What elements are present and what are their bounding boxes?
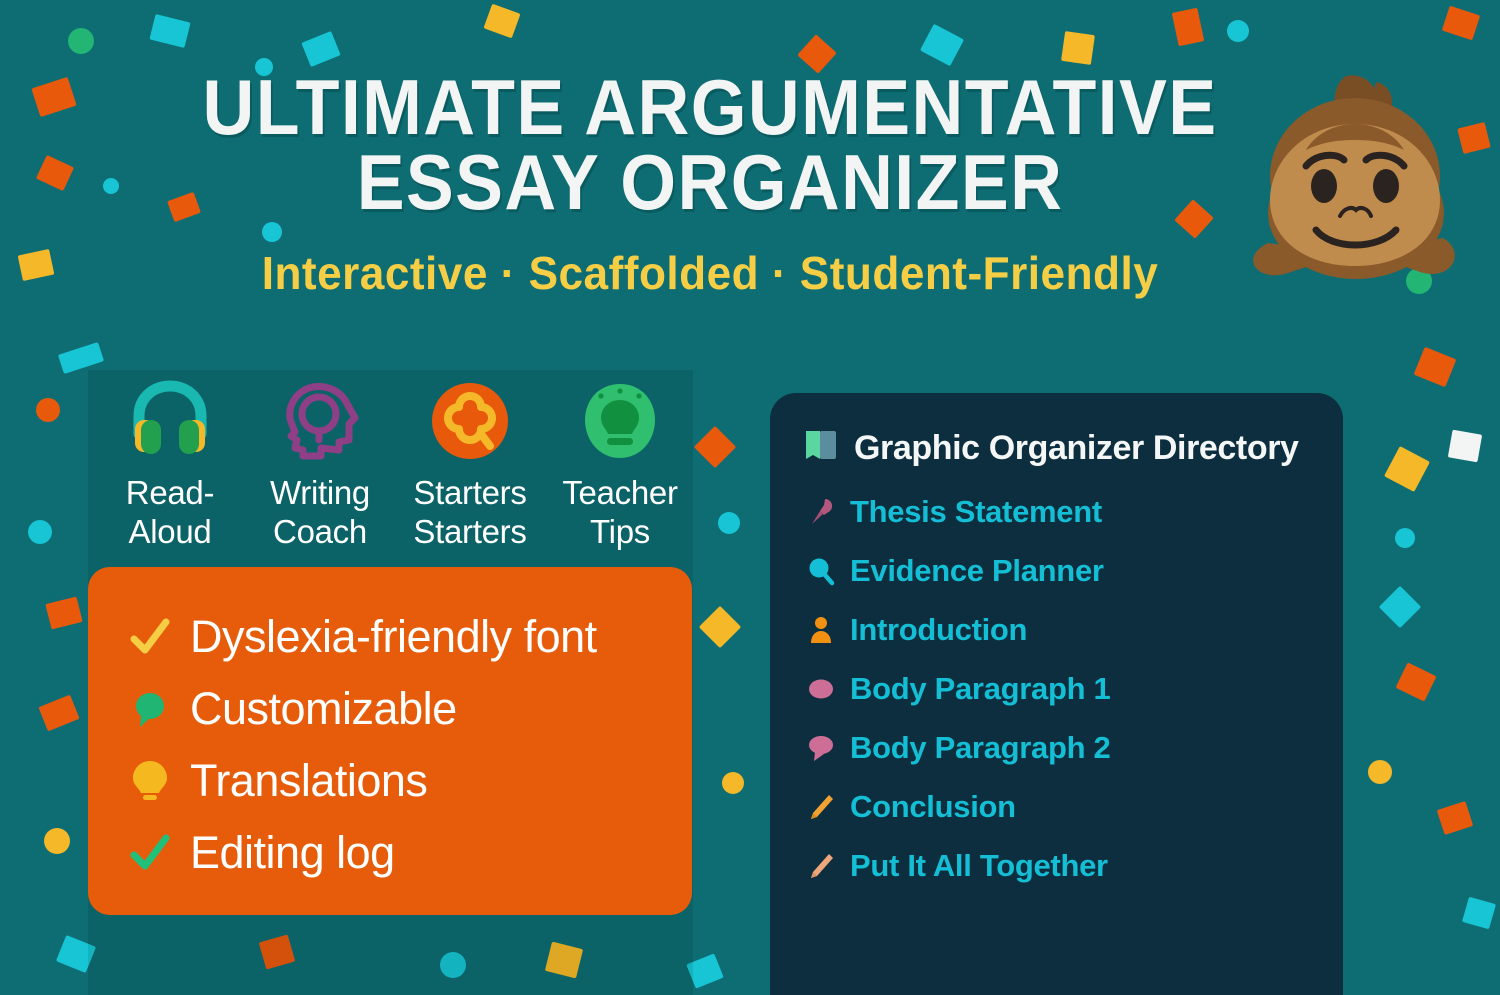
page-title-line-1: ULTIMATE ARGUMENTATIVE	[57, 70, 1363, 145]
directory-item-introduction[interactable]: Introduction	[804, 600, 1317, 659]
poster-header: ULTIMATE ARGUMENTATIVE ESSAY ORGANIZER I…	[0, 70, 1420, 300]
feature-highlights-card: Dyslexia-friendly font Customizable Tran…	[88, 567, 692, 915]
page-title-line-2: ESSAY ORGANIZER	[57, 145, 1363, 220]
feature-icon-sentence-starters[interactable]: Starters Starters	[400, 378, 540, 552]
confetti-piece	[694, 426, 736, 468]
confetti-piece	[1172, 8, 1205, 47]
directory-item-evidence-planner[interactable]: Evidence Planner	[804, 541, 1317, 600]
confetti-piece	[36, 398, 60, 422]
page-subtitle: Interactive · Scaffolded · Student-Frien…	[28, 246, 1391, 300]
graphic-organizer-directory-card: Graphic Organizer Directory Thesis State…	[770, 393, 1343, 995]
confetti-piece	[1437, 801, 1474, 835]
green-book-icon	[804, 429, 842, 468]
confetti-piece	[1061, 31, 1095, 65]
magnifying-glass-icon	[804, 556, 838, 586]
confetti-piece	[483, 4, 520, 39]
feature-label: Editing log	[190, 827, 395, 879]
label-line-1: Writing	[270, 474, 370, 511]
label-line-2: Aloud	[129, 513, 212, 550]
feature-icon-label: Read- Aloud	[126, 474, 214, 552]
feature-icon-read-aloud[interactable]: Read- Aloud	[100, 378, 240, 552]
check-mark-icon	[124, 831, 176, 875]
confetti-piece	[920, 24, 964, 66]
directory-item-thesis-statement[interactable]: Thesis Statement	[804, 482, 1317, 541]
confetti-piece	[1442, 6, 1480, 41]
feature-item: Dyslexia-friendly font	[124, 601, 662, 673]
pushpin-icon	[804, 497, 838, 527]
directory-item-label: Evidence Planner	[850, 553, 1104, 589]
sentence-starters-icon	[427, 378, 513, 464]
confetti-piece	[718, 512, 740, 534]
confetti-piece	[38, 695, 79, 732]
feature-icon-label: Teacher Tips	[562, 474, 677, 552]
person-bust-icon	[804, 615, 838, 645]
lightbulb-icon	[124, 759, 176, 803]
tan-pencil-icon	[804, 851, 838, 881]
label-line-2: Starters	[413, 513, 526, 550]
confetti-piece	[28, 520, 52, 544]
directory-heading-label: Graphic Organizer Directory	[854, 429, 1299, 468]
confetti-piece	[301, 31, 340, 67]
confetti-piece	[699, 606, 741, 648]
pink-ellipse-icon	[804, 677, 838, 701]
confetti-piece	[1379, 586, 1421, 628]
directory-heading: Graphic Organizer Directory	[804, 429, 1317, 468]
head-thinking-icon	[277, 378, 363, 464]
feature-label: Customizable	[190, 683, 457, 735]
confetti-piece	[1462, 897, 1496, 930]
confetti-piece	[1395, 528, 1415, 548]
feature-icon-writing-coach[interactable]: Writing Coach	[250, 378, 390, 552]
feature-icon-label: Writing Coach	[270, 474, 370, 552]
feature-label: Translations	[190, 755, 427, 807]
directory-item-label: Put It All Together	[850, 848, 1108, 884]
feature-item: Translations	[124, 745, 662, 817]
label-line-2: Coach	[273, 513, 367, 550]
pink-speech-bubble-icon	[804, 734, 838, 762]
directory-item-body-paragraph-1[interactable]: Body Paragraph 1	[804, 659, 1317, 718]
confetti-piece	[66, 26, 97, 57]
directory-item-label: Introduction	[850, 612, 1027, 648]
directory-item-label: Body Paragraph 1	[850, 671, 1111, 707]
confetti-piece	[1227, 20, 1249, 42]
confetti-piece	[1368, 760, 1392, 784]
check-mark-icon	[124, 615, 176, 659]
confetti-piece	[1414, 347, 1457, 388]
label-line-1: Starters	[413, 474, 526, 511]
directory-item-label: Body Paragraph 2	[850, 730, 1111, 766]
feature-label: Dyslexia-friendly font	[190, 611, 597, 663]
label-line-1: Read-	[126, 474, 214, 511]
feature-item: Customizable	[124, 673, 662, 745]
confetti-piece	[722, 772, 744, 794]
confetti-piece	[1448, 430, 1482, 463]
page-title: ULTIMATE ARGUMENTATIVE ESSAY ORGANIZER	[57, 70, 1363, 220]
directory-item-label: Thesis Statement	[850, 494, 1102, 530]
poster-canvas: ULTIMATE ARGUMENTATIVE ESSAY ORGANIZER I…	[0, 0, 1500, 995]
speech-balloon-icon	[124, 689, 176, 729]
feature-icon-teacher-tips[interactable]: Teacher Tips	[550, 378, 690, 552]
confetti-piece	[149, 14, 190, 48]
feature-icon-row: Read- Aloud Writing Coach Starters	[100, 378, 690, 552]
confetti-piece	[1384, 446, 1430, 492]
directory-item-body-paragraph-2[interactable]: Body Paragraph 2	[804, 718, 1317, 777]
label-line-1: Teacher	[562, 474, 677, 511]
confetti-piece	[45, 597, 82, 630]
headphones-icon	[127, 378, 213, 464]
feature-item: Editing log	[124, 817, 662, 889]
gorilla-face-icon	[1228, 58, 1478, 298]
lightbulb-badge-icon	[577, 378, 663, 464]
orange-pencil-icon	[804, 792, 838, 822]
confetti-piece	[44, 828, 70, 854]
directory-item-label: Conclusion	[850, 789, 1016, 825]
directory-item-conclusion[interactable]: Conclusion	[804, 777, 1317, 836]
feature-icon-label: Starters Starters	[413, 474, 526, 552]
confetti-piece	[1395, 662, 1436, 701]
label-line-2: Tips	[590, 513, 650, 550]
directory-item-put-it-all-together[interactable]: Put It All Together	[804, 836, 1317, 895]
